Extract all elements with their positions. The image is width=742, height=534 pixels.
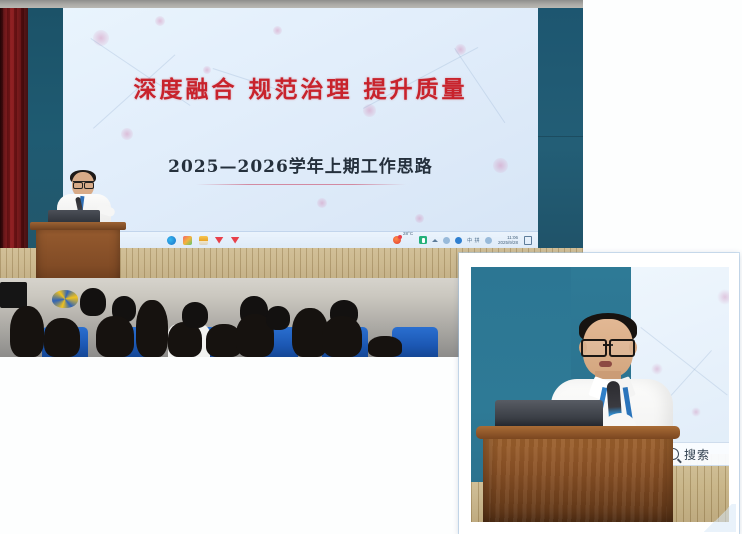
wifi-icon[interactable] xyxy=(443,237,450,244)
glasses-icon xyxy=(581,339,635,353)
battery-icon[interactable] xyxy=(485,237,492,244)
edge-icon[interactable] xyxy=(167,236,176,245)
weather-icon xyxy=(393,236,401,244)
audience-cap xyxy=(52,290,78,308)
microsoft-store-icon[interactable] xyxy=(183,236,192,245)
inset-photo-body: 搜索 xyxy=(471,267,729,522)
speaker-closeup-photo[interactable]: 搜索 xyxy=(459,253,739,534)
stage-curtain xyxy=(0,8,28,268)
inset-podium-top xyxy=(476,426,680,439)
inset-corner-fold xyxy=(700,504,736,532)
inset-podium-grain xyxy=(489,439,667,522)
slide-title: 深度融合 规范治理 提升质量 xyxy=(63,70,538,104)
ime-icon[interactable]: 中 拼 xyxy=(467,237,480,244)
taskbar-tray-area[interactable]: 28°C 晴 中 拼 11:06 2025/9/28 xyxy=(393,222,538,248)
inset-podium xyxy=(483,426,673,522)
windows-taskbar[interactable]: 搜索 28°C 晴 xyxy=(63,231,538,248)
system-tray[interactable]: 中 拼 xyxy=(419,236,492,244)
loudspeaker xyxy=(0,282,27,308)
slide-divider xyxy=(196,184,406,185)
file-explorer-icon[interactable] xyxy=(199,236,208,245)
notification-icon[interactable] xyxy=(524,236,532,245)
taskbar-clock[interactable]: 11:06 2025/9/28 xyxy=(498,235,518,245)
wps-tray-icon[interactable] xyxy=(419,236,427,244)
slide-decoration xyxy=(63,8,538,248)
wall-right xyxy=(538,8,583,258)
clock-date: 2025/9/28 xyxy=(498,240,518,245)
wps-presentation-icon[interactable] xyxy=(231,236,240,245)
taskbar-app-icons[interactable] xyxy=(167,236,240,245)
photo-collage-canvas: 深度融合 规范治理 提升质量 2025—2026学年上期工作思路 搜索 xyxy=(0,0,742,534)
inset-speaker-mouth xyxy=(599,361,612,367)
podium-top xyxy=(30,222,126,230)
weather-temp: 28°C xyxy=(403,231,413,236)
inset-search-label: 搜索 xyxy=(684,446,710,463)
projection-screen: 深度融合 规范治理 提升质量 2025—2026学年上期工作思路 搜索 xyxy=(63,8,538,248)
slide-subtitle: 2025—2026学年上期工作思路 xyxy=(63,152,538,177)
weather-widget[interactable]: 28°C 晴 xyxy=(393,222,413,248)
chevron-up-icon[interactable] xyxy=(432,239,438,242)
volume-icon[interactable] xyxy=(455,237,462,244)
glasses-icon xyxy=(73,181,94,187)
wps-writer-icon[interactable] xyxy=(215,236,224,245)
inset-laptop xyxy=(495,400,603,426)
